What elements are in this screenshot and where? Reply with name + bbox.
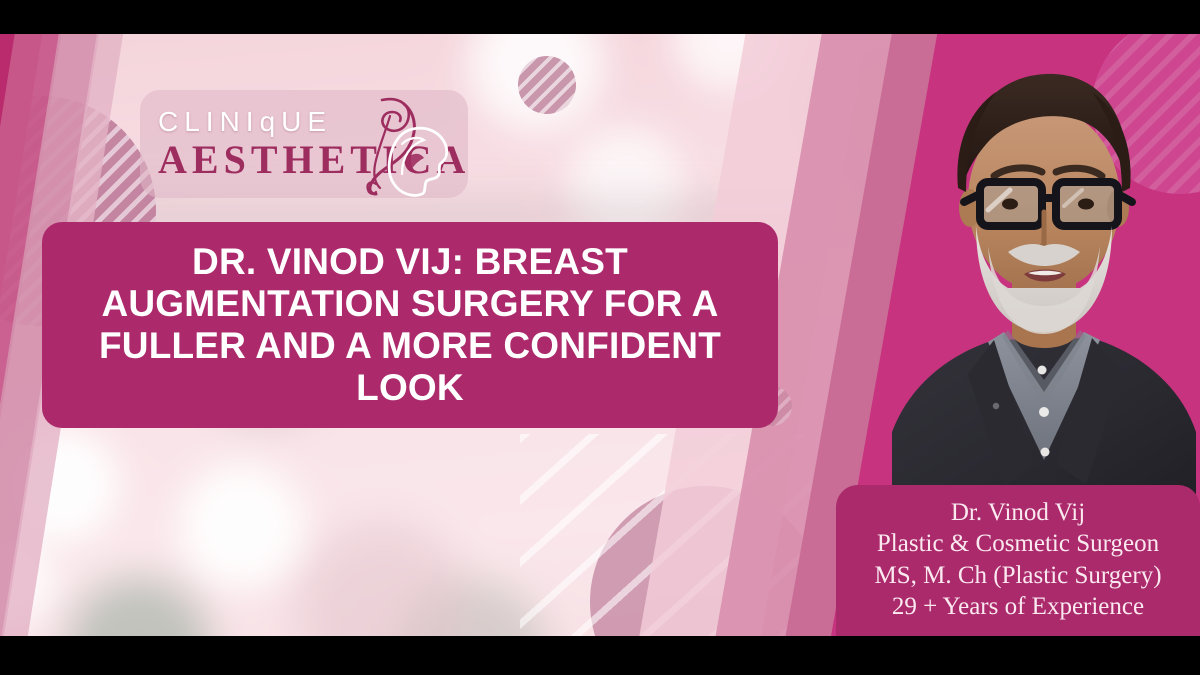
credentials-card: Dr. Vinod Vij Plastic & Cosmetic Surgeon… xyxy=(836,485,1200,636)
doctor-experience: 29 + Years of Experience xyxy=(892,591,1144,623)
doctor-role: Plastic & Cosmetic Surgeon xyxy=(877,528,1159,560)
banner-stage: CLINIqUE AESTHETICA xyxy=(0,0,1200,675)
doctor-name: Dr. Vinod Vij xyxy=(951,497,1085,529)
banner-artwork: CLINIqUE AESTHETICA xyxy=(0,34,1200,636)
striped-circle-top-middle xyxy=(518,56,576,114)
brand-name-line-1: CLINIqUE xyxy=(158,108,332,136)
page-title: DR. VINOD VIJ: BREAST AUGMENTATION SURGE… xyxy=(60,241,760,410)
woman-face-profile-icon xyxy=(342,94,458,198)
doctor-portrait xyxy=(884,40,1200,530)
doctor-degree: MS, M. Ch (Plastic Surgery) xyxy=(874,560,1161,592)
brand-logo-card: CLINIqUE AESTHETICA xyxy=(140,90,468,198)
letterbox-bar-top xyxy=(0,0,1200,34)
letterbox-bar-bottom xyxy=(0,636,1200,675)
headline-badge: DR. VINOD VIJ: BREAST AUGMENTATION SURGE… xyxy=(42,222,778,428)
